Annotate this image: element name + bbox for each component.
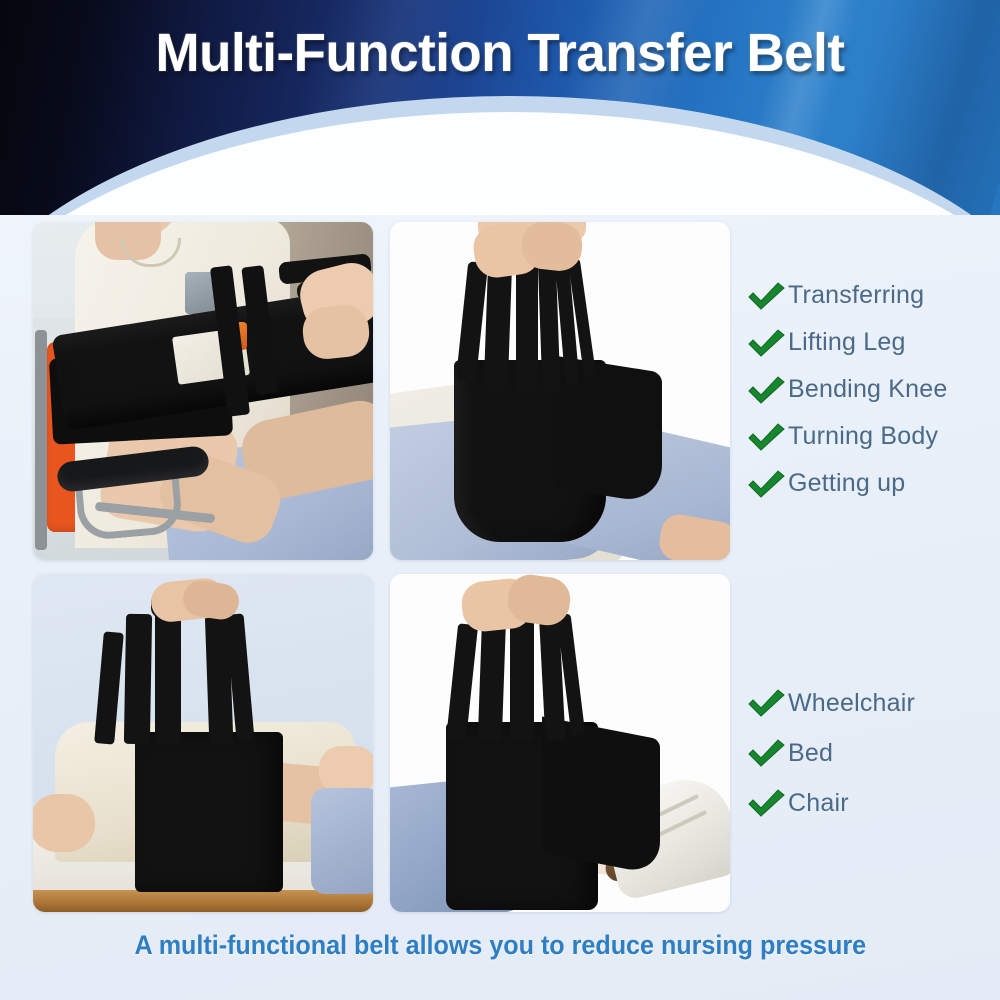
list-item-label: Wheelchair [788,689,915,718]
list-item[interactable]: Chair [746,778,994,828]
page-title: Multi-Function Transfer Belt [10,22,990,84]
list-item-label: Turning Body [788,422,938,451]
list-item[interactable]: Turning Body [746,413,994,460]
list-item[interactable]: Bed [746,728,994,778]
list-item-label: Getting up [788,469,905,498]
footer-caption-text: A multi-functional belt allows you to re… [134,930,866,961]
photo-grid [33,222,730,912]
places-list: Wheelchair Bed Chair [746,678,994,828]
list-item[interactable]: Getting up [746,460,994,507]
lifting-leg-photo [390,222,730,560]
check-mark-icon [746,422,788,452]
product-infographic: Multi-Function Transfer Belt [0,0,1000,1000]
check-mark-icon [746,281,788,311]
leg-sling-shoe-photo [390,574,730,912]
check-mark-icon [746,788,788,818]
check-mark-icon [746,688,788,718]
check-mark-icon [746,328,788,358]
list-item[interactable]: Lifting Leg [746,319,994,366]
uses-list: Transferring Lifting Leg Bending Knee [746,272,994,507]
list-item-label: Transferring [788,281,924,310]
list-item-label: Chair [788,789,849,818]
list-item-label: Lifting Leg [788,328,906,357]
wheelchair-transfer-photo [33,222,373,560]
list-item[interactable]: Bending Knee [746,366,994,413]
check-mark-icon [746,469,788,499]
list-item-label: Bed [788,739,833,768]
list-item[interactable]: Transferring [746,272,994,319]
footer-caption: A multi-functional belt allows you to re… [0,930,1000,961]
list-item[interactable]: Wheelchair [746,678,994,728]
list-item-label: Bending Knee [788,375,947,404]
bed-transfer-photo [33,574,373,912]
check-mark-icon [746,738,788,768]
header-banner: Multi-Function Transfer Belt [0,0,1000,215]
check-mark-icon [746,375,788,405]
